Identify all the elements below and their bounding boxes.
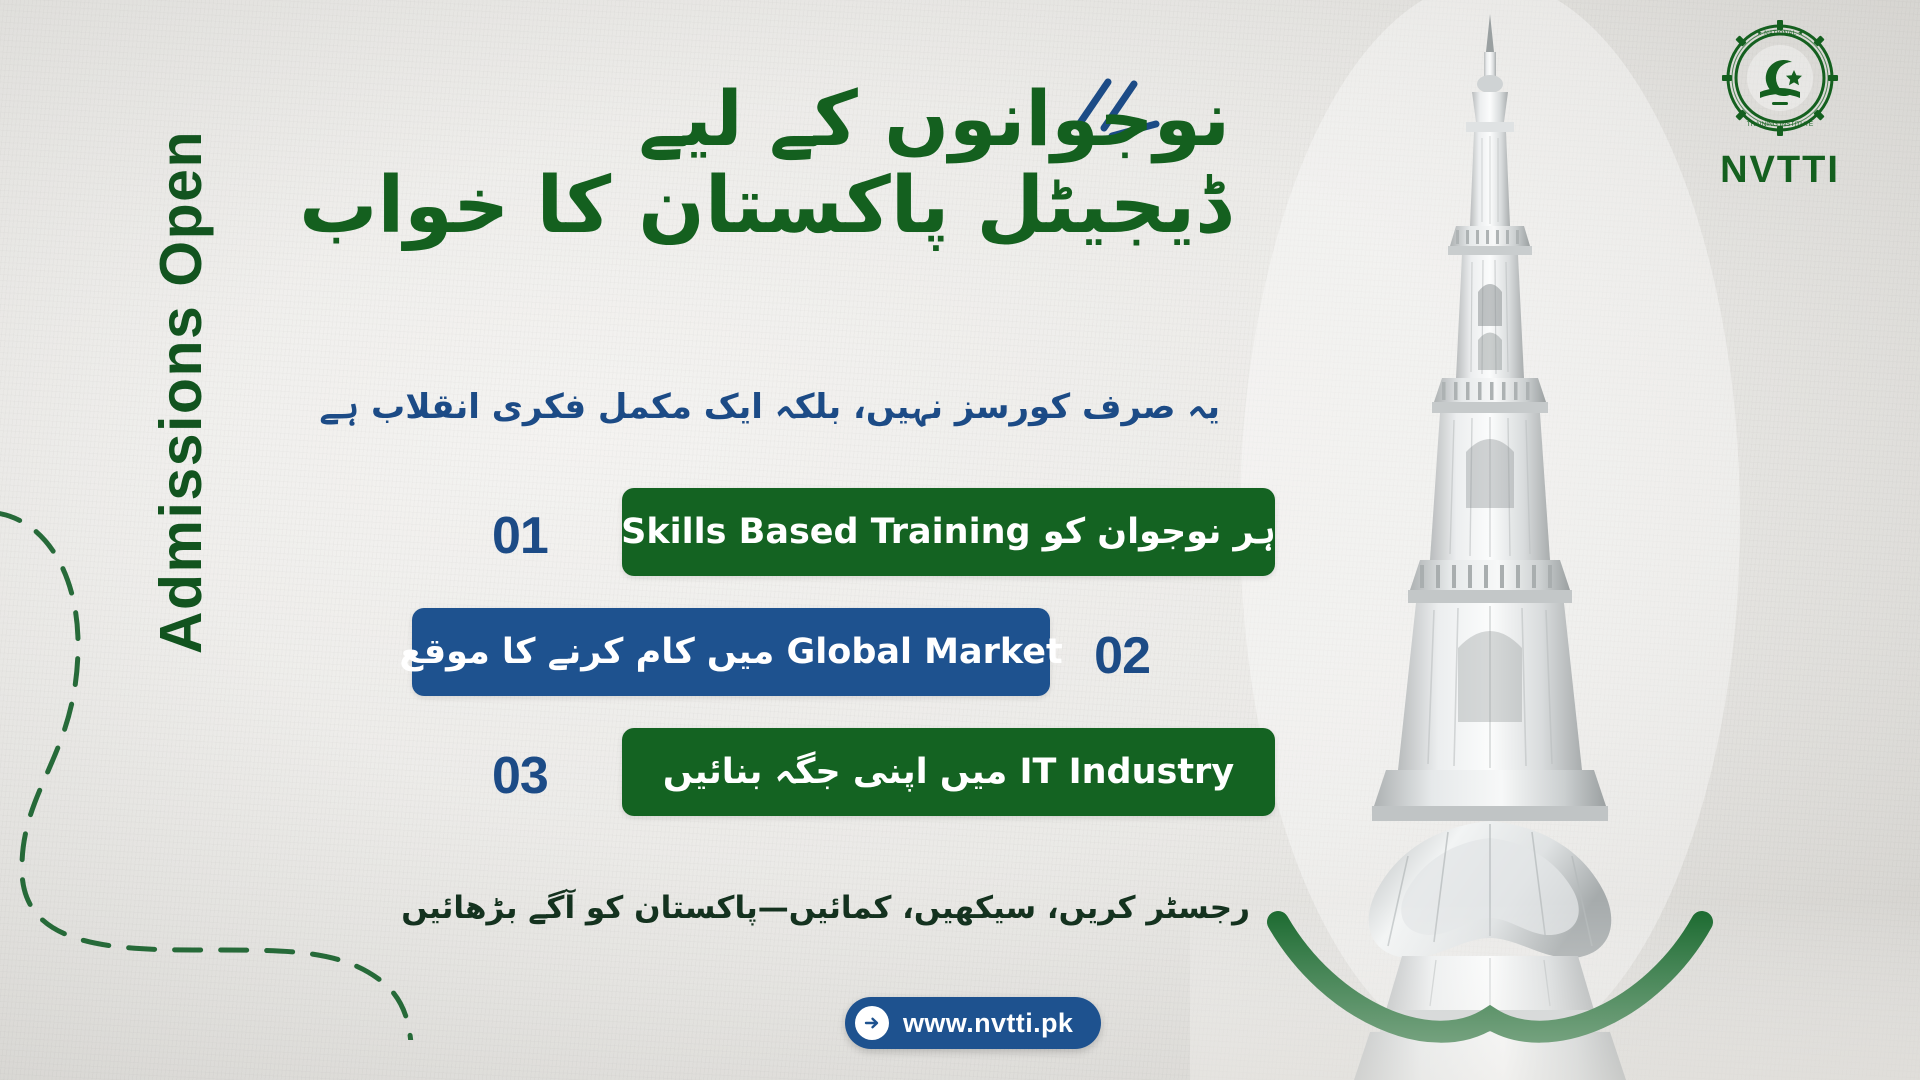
feature-list: 01 ہر نوجوان کو Skills Based Training Gl… [470, 488, 1250, 848]
footer-tagline: رجسٹر کریں، سیکھیں، کمائیں—پاکستان کو آگ… [470, 890, 1250, 926]
svg-text:TRAINING INSTITUTE: TRAINING INSTITUTE [1747, 121, 1814, 128]
feature-number: 02 [1094, 626, 1150, 686]
website-button[interactable]: www.nvtti.pk [845, 997, 1101, 1049]
feature-number: 01 [492, 506, 548, 566]
admissions-open-label: Admissions Open [152, 130, 211, 654]
headline-line-1: نوجوانوں کے لیے [330, 78, 1230, 160]
feature-pill[interactable]: IT Industry میں اپنی جگہ بنائیں [622, 728, 1275, 816]
promo-banner: Admissions Open نوجوانوں کے لیے ڈیجیٹل پ… [0, 0, 1920, 1080]
feature-row: 01 ہر نوجوان کو Skills Based Training [470, 488, 1250, 584]
nvtti-crest-icon: ★ NATIONAL ★ TRAINING INSTITUTE [1720, 18, 1840, 138]
nvtti-wordmark: NVTTI [1700, 149, 1860, 192]
headline-line-2: ڈیجیٹل پاکستان کا خواب [330, 164, 1230, 248]
website-url-label: www.nvtti.pk [903, 1008, 1073, 1039]
arrow-right-icon [855, 1006, 889, 1040]
headline: نوجوانوں کے لیے ڈیجیٹل پاکستان کا خواب [330, 78, 1230, 248]
feature-pill[interactable]: ہر نوجوان کو Skills Based Training [622, 488, 1275, 576]
feature-pill[interactable]: Global Market میں کام کرنے کا موقع [412, 608, 1050, 696]
feature-row: Global Market میں کام کرنے کا موقع 02 [470, 608, 1250, 704]
admissions-open-vertical: Admissions Open [152, 130, 211, 810]
feature-number: 03 [492, 746, 548, 806]
svg-text:★ NATIONAL ★: ★ NATIONAL ★ [1756, 29, 1803, 37]
feature-row: 03 IT Industry میں اپنی جگہ بنائیں [470, 728, 1250, 824]
subtitle: یہ صرف کورسز نہیں، بلکہ ایک مکمل فکری ان… [350, 386, 1220, 427]
nvtti-logo: ★ NATIONAL ★ TRAINING INSTITUTE NVTTI [1700, 18, 1860, 192]
